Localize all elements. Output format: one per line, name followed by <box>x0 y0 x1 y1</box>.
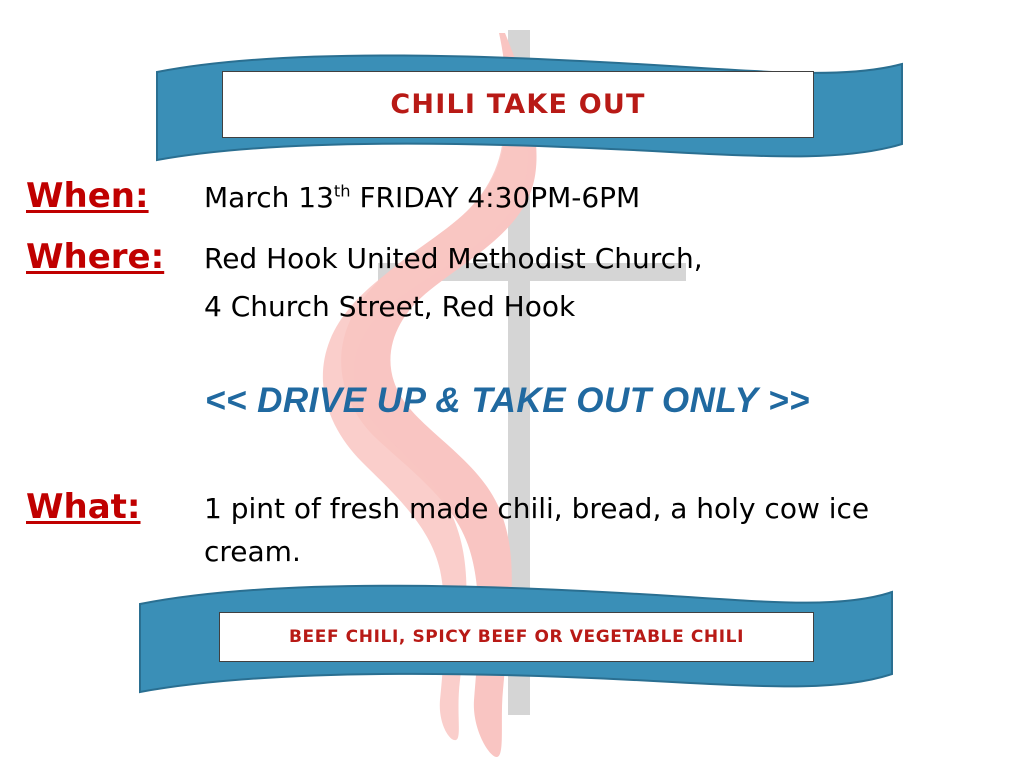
detail-row-what: What: 1 pint of fresh made chili, bread,… <box>26 487 869 527</box>
drive-up-callout: << DRIVE UP & TAKE OUT ONLY >> <box>0 381 1015 421</box>
when-date: March 13 <box>204 181 334 214</box>
what-value-line2: cream. <box>204 535 301 568</box>
when-time: FRIDAY 4:30PM-6PM <box>351 181 641 214</box>
where-label: Where: <box>26 237 204 277</box>
flyer-content: When: March 13th FRIDAY 4:30PM-6PM Where… <box>0 0 1015 784</box>
flyer-page: CHILI TAKE OUT BEEF CHILI, SPICY BEEF OR… <box>0 0 1015 784</box>
when-date-ordinal: th <box>334 182 351 201</box>
when-label: When: <box>26 176 204 216</box>
detail-row-when: When: March 13th FRIDAY 4:30PM-6PM <box>26 176 640 216</box>
detail-row-where: Where: Red Hook United Methodist Church, <box>26 237 703 277</box>
what-label: What: <box>26 487 204 527</box>
when-value: March 13th FRIDAY 4:30PM-6PM <box>204 181 640 214</box>
what-value-line1: 1 pint of fresh made chili, bread, a hol… <box>204 492 869 525</box>
where-value-line1: Red Hook United Methodist Church, <box>204 242 703 275</box>
where-value-line2: 4 Church Street, Red Hook <box>204 290 575 323</box>
